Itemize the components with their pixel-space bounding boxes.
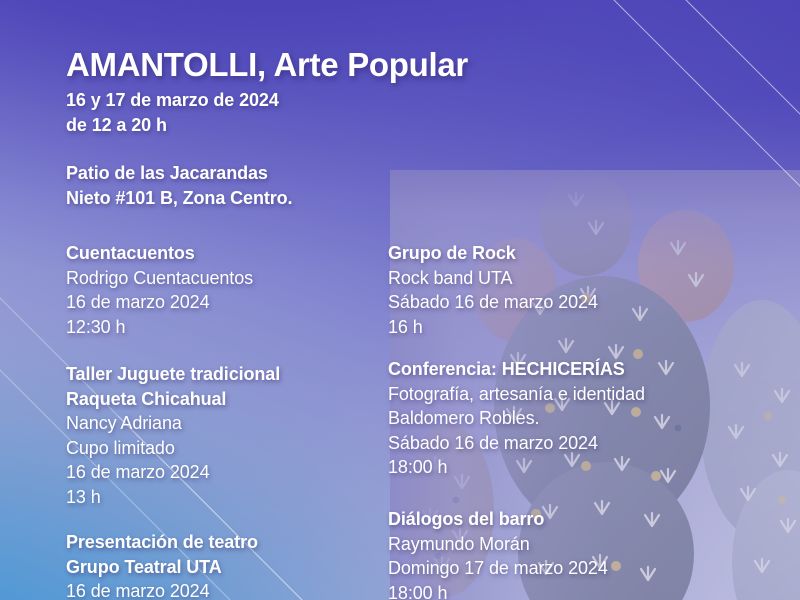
poster-title: AMANTOLLI, Arte Popular	[66, 48, 468, 83]
event-time: 18:00 h	[388, 455, 645, 480]
event-detail: Nancy Adriana	[66, 411, 280, 436]
event-time: 12:30 h	[66, 315, 253, 340]
venue-line-1: Patio de las Jacarandas	[66, 161, 292, 186]
datetime-line-1: 16 y 17 de marzo de 2024	[66, 88, 279, 113]
event-poster: Feria de arte popular AMANTOLLI, Arte Po…	[0, 0, 800, 600]
event-detail: Raymundo Morán	[388, 532, 608, 557]
event-subtitle: Fotografía, artesanía e identidad	[388, 382, 645, 407]
event-title: Taller Juguete tradicional	[66, 362, 280, 387]
event-dialogos-del-barro: Diálogos del barro Raymundo Morán Doming…	[388, 507, 608, 600]
event-time: 18:00 h	[388, 581, 608, 600]
event-title: Conferencia: HECHICERÍAS	[388, 357, 645, 382]
event-date: Domingo 17 de marzo 2024	[388, 556, 608, 581]
event-date: Sábado 16 de marzo 2024	[388, 431, 645, 456]
event-time: 16 h	[388, 315, 598, 340]
event-detail: Rodrigo Cuentacuentos	[66, 266, 253, 291]
event-time: 13 h	[66, 485, 280, 510]
event-note: Cupo limitado	[66, 436, 280, 461]
venue-line-2: Nieto #101 B, Zona Centro.	[66, 186, 292, 211]
datetime-line-2: de 12 a 20 h	[66, 113, 279, 138]
event-date: 16 de marzo 2024	[66, 460, 280, 485]
event-date: 16 de marzo 2024	[66, 579, 258, 600]
event-datetime: 16 y 17 de marzo de 2024 de 12 a 20 h	[66, 88, 279, 137]
event-date: Sábado 16 de marzo 2024	[388, 290, 598, 315]
event-venue: Patio de las Jacarandas Nieto #101 B, Zo…	[66, 161, 292, 210]
event-detail: Rock band UTA	[388, 266, 598, 291]
event-title: Grupo de Rock	[388, 241, 598, 266]
event-date: 16 de marzo 2024	[66, 290, 253, 315]
event-taller-juguete-tradicional: Taller Juguete tradicional Raqueta Chica…	[66, 362, 280, 509]
event-conferencia-hechicerias: Conferencia: HECHICERÍAS Fotografía, art…	[388, 357, 645, 480]
event-presentacion-de-teatro: Presentación de teatro Grupo Teatral UTA…	[66, 530, 258, 600]
event-subtitle: Raqueta Chicahual	[66, 387, 280, 412]
event-detail: Baldomero Robles.	[388, 406, 645, 431]
event-cuentacuentos: Cuentacuentos Rodrigo Cuentacuentos 16 d…	[66, 241, 253, 339]
event-title: Diálogos del barro	[388, 507, 608, 532]
event-title: Presentación de teatro	[66, 530, 258, 555]
event-grupo-de-rock: Grupo de Rock Rock band UTA Sábado 16 de…	[388, 241, 598, 339]
event-title: Cuentacuentos	[66, 241, 253, 266]
event-subtitle: Grupo Teatral UTA	[66, 555, 258, 580]
